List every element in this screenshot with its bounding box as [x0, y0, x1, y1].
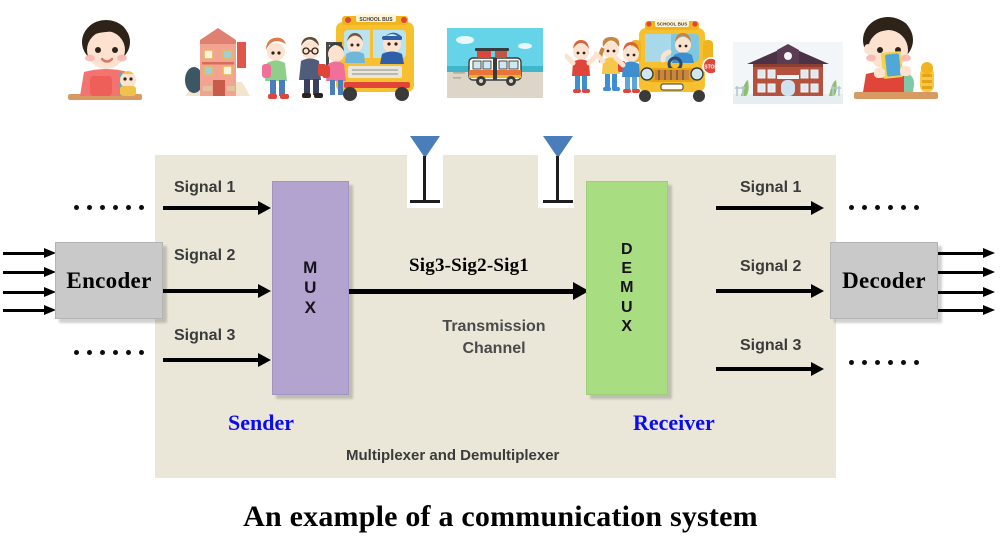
mux-face: M U X [272, 181, 349, 395]
receiver-label: Receiver [633, 410, 715, 436]
arrow-head [811, 201, 824, 215]
svg-text:SCHOOL BUS: SCHOOL BUS [657, 22, 688, 27]
arrow-head [983, 287, 995, 297]
mux-block: M U X [272, 181, 349, 395]
output-signal-2-label: Signal 2 [740, 258, 801, 276]
input-signal-1-label: Signal 1 [174, 179, 235, 197]
arrow-shaft [3, 291, 44, 294]
illustration-boy-with-backpack [62, 14, 148, 106]
arrow-shaft [163, 206, 258, 210]
demux-letter: M [620, 278, 634, 297]
arrow-head [983, 248, 995, 258]
decoder-top-ellipsis [849, 205, 919, 210]
arrow-shaft [716, 367, 811, 371]
output-signal-1-label: Signal 1 [740, 179, 801, 197]
illustration-children-leaving-bus: SCHOOL BUS [565, 12, 715, 104]
arrow-shaft [3, 252, 44, 255]
arrow-shaft [716, 206, 811, 210]
demux-letter: E [621, 259, 632, 278]
illustration-children-boarding-bus: SCHOOL BUS [258, 8, 418, 106]
input-signal-3-label: Signal 3 [174, 327, 235, 345]
arrow-shaft [938, 291, 983, 294]
svg-text:STOP: STOP [704, 65, 715, 71]
mux-letter: M [303, 258, 318, 278]
antenna-base [410, 200, 440, 203]
arrow-shaft [3, 271, 44, 274]
decoder-label: Decoder [842, 268, 926, 294]
output-signal-3-label: Signal 3 [740, 337, 801, 355]
arrow-shaft [716, 289, 811, 293]
arrow-shaft [938, 309, 983, 312]
illustration-house-building [182, 24, 254, 102]
arrow-shaft [163, 289, 258, 293]
arrow-head [983, 267, 995, 277]
transmit-antenna-icon [410, 136, 440, 206]
antenna-mast [423, 156, 426, 203]
antenna-mast [556, 156, 559, 203]
antenna-dish-icon [543, 136, 573, 158]
illustration-boy-at-desk [848, 12, 944, 106]
illustration-bus-on-road [447, 28, 543, 98]
antenna-base [543, 200, 573, 203]
demux-block: D E M U X [586, 181, 668, 395]
multiplexed-signal-label: Sig3-Sig2-Sig1 [409, 255, 529, 277]
arrow-shaft [938, 271, 983, 274]
receive-antenna-icon [543, 136, 573, 206]
mux-label: M U X [303, 258, 318, 318]
mux-letter: X [305, 298, 317, 318]
arrow-shaft [163, 358, 258, 362]
illustration-school-building [733, 42, 843, 104]
svg-text:SCHOOL BUS: SCHOOL BUS [359, 17, 393, 23]
channel-line-2: Channel [424, 338, 564, 360]
arrow-head [258, 284, 271, 298]
figure-canvas: SCHOOL BUS [0, 0, 1001, 557]
mux-letter: U [304, 278, 317, 298]
encoder-block: Encoder [55, 242, 163, 319]
channel-line-1: Transmission [424, 316, 564, 338]
input-signal-2-label: Signal 2 [174, 247, 235, 265]
decoder-block: Decoder [830, 242, 938, 319]
arrow-shaft [3, 309, 44, 312]
demux-letter: X [621, 317, 632, 336]
decoder-face: Decoder [830, 242, 938, 319]
transmission-channel-label: Transmission Channel [424, 316, 564, 359]
encoder-bottom-ellipsis [74, 350, 144, 355]
arrow-head [258, 201, 271, 215]
arrow-shaft [938, 252, 983, 255]
encoder-face: Encoder [55, 242, 163, 319]
decoder-bottom-ellipsis [849, 360, 919, 365]
panel-caption: Multiplexer and Demultiplexer [346, 447, 559, 464]
arrow-head [258, 353, 271, 367]
arrow-head [811, 362, 824, 376]
demux-letter: U [621, 298, 633, 317]
figure-caption: An example of a communication system [0, 500, 1001, 534]
arrow-shaft [348, 289, 573, 294]
encoder-label: Encoder [66, 268, 151, 294]
arrow-head [811, 284, 824, 298]
sender-label: Sender [228, 410, 294, 436]
demux-letter: D [621, 240, 633, 259]
arrow-head [983, 305, 995, 315]
demux-label: D E M U X [620, 240, 634, 336]
demux-face: D E M U X [586, 181, 668, 395]
encoder-top-ellipsis [74, 205, 144, 210]
antenna-dish-icon [410, 136, 440, 158]
